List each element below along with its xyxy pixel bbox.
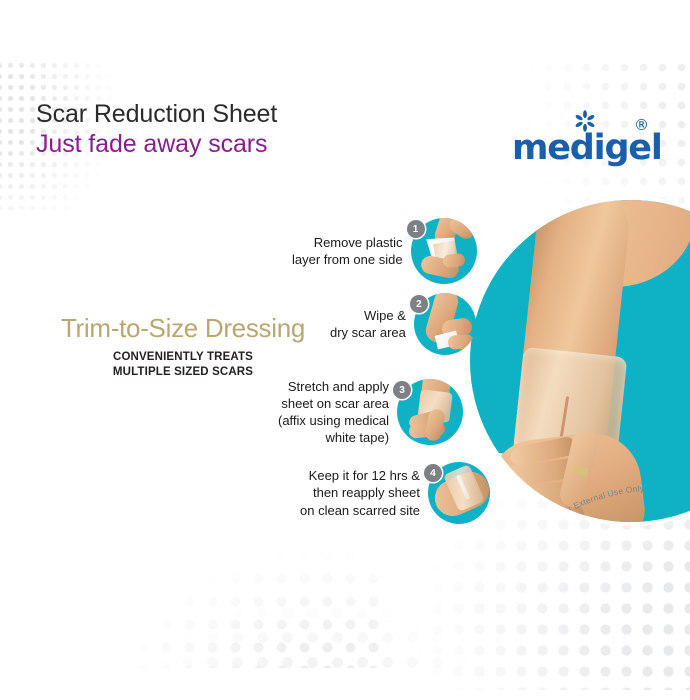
instruction-step-4: Keep it for 12 hrs & then reapply sheet …: [300, 462, 490, 524]
svg-text:For External Use Only: For External Use Only: [557, 486, 645, 518]
feature-block: Trim-to-Size Dressing CONVENIENTLY TREAT…: [48, 314, 318, 381]
instruction-step-1: Remove plastic layer from one side 1: [292, 218, 477, 284]
step-4-text: Keep it for 12 hrs & then reapply sheet …: [300, 467, 420, 518]
page-title: Scar Reduction Sheet: [36, 100, 277, 130]
feature-subtitle: CONVENIENTLY TREATS MULTIPLE SIZED SCARS: [48, 350, 318, 382]
page-subtitle: Just fade away scars: [36, 130, 277, 160]
step-4-media: 4: [428, 462, 490, 524]
hero-caption: For External Use Only: [554, 486, 690, 526]
feature-title: Trim-to-Size Dressing: [48, 314, 318, 343]
step-2-media: 2: [414, 293, 476, 355]
hero-product-photo: For External Use Only: [466, 196, 690, 526]
hero-teal-circle: For External Use Only: [466, 196, 690, 526]
headline-block: Scar Reduction Sheet Just fade away scar…: [36, 100, 277, 159]
poster-canvas: Scar Reduction Sheet Just fade away scar…: [0, 0, 690, 700]
step-1-text: Remove plastic layer from one side: [292, 234, 403, 268]
step-3-media: 3: [397, 379, 463, 445]
registered-trademark-icon: ®: [634, 118, 649, 133]
hero-caption-text: For External Use Only: [557, 486, 645, 518]
brand-logo: medigel ®: [512, 110, 662, 168]
step-2-number-badge: 2: [410, 295, 428, 313]
instruction-step-2: Wipe & dry scar area 2: [330, 293, 476, 355]
step-3-text: Stretch and apply sheet on scar area (af…: [278, 378, 389, 447]
step-4-number-badge: 4: [424, 464, 442, 482]
feature-subtitle-line-1: CONVENIENTLY TREATS: [48, 350, 318, 366]
halftone-dots-bottom-center: [150, 550, 480, 680]
brand-wordmark: medigel: [512, 131, 662, 166]
step-2-text: Wipe & dry scar area: [330, 307, 406, 341]
step-1-media: 1: [411, 218, 477, 284]
step-1-number-badge: 1: [407, 220, 425, 238]
instruction-step-3: Stretch and apply sheet on scar area (af…: [278, 378, 463, 447]
